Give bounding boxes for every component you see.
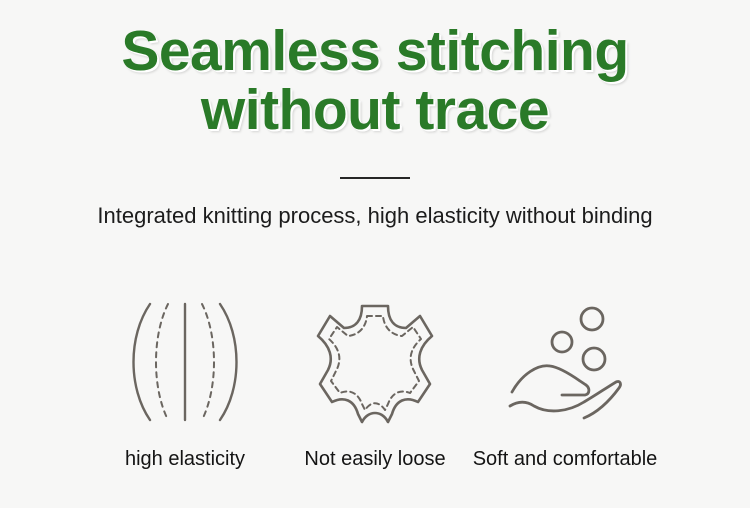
feature-label-high-elasticity: high elasticity — [125, 448, 245, 471]
page-title: Seamless stitching without trace — [0, 22, 750, 139]
product-feature-banner: Seamless stitching without trace Integra… — [0, 0, 750, 508]
elasticity-stretch-icon — [120, 296, 250, 428]
feature-label-soft-and-comfortable: Soft and comfortable — [473, 448, 658, 471]
hand-bubbles-soft-icon — [500, 296, 630, 428]
headline-line-1: Seamless stitching — [0, 22, 750, 81]
feature-item-not-easily-loose: Not easily loose — [280, 296, 470, 471]
title-divider — [340, 177, 410, 179]
feature-item-high-elasticity: high elasticity — [90, 296, 280, 471]
page-subtitle: Integrated knitting process, high elasti… — [0, 203, 750, 229]
feature-item-soft-and-comfortable: Soft and comfortable — [470, 296, 660, 471]
leather-hide-stitch-icon — [310, 296, 440, 428]
headline-line-2: without trace — [0, 81, 750, 140]
feature-label-not-easily-loose: Not easily loose — [304, 448, 445, 471]
feature-list: high elasticity Not easily loose — [90, 296, 660, 471]
